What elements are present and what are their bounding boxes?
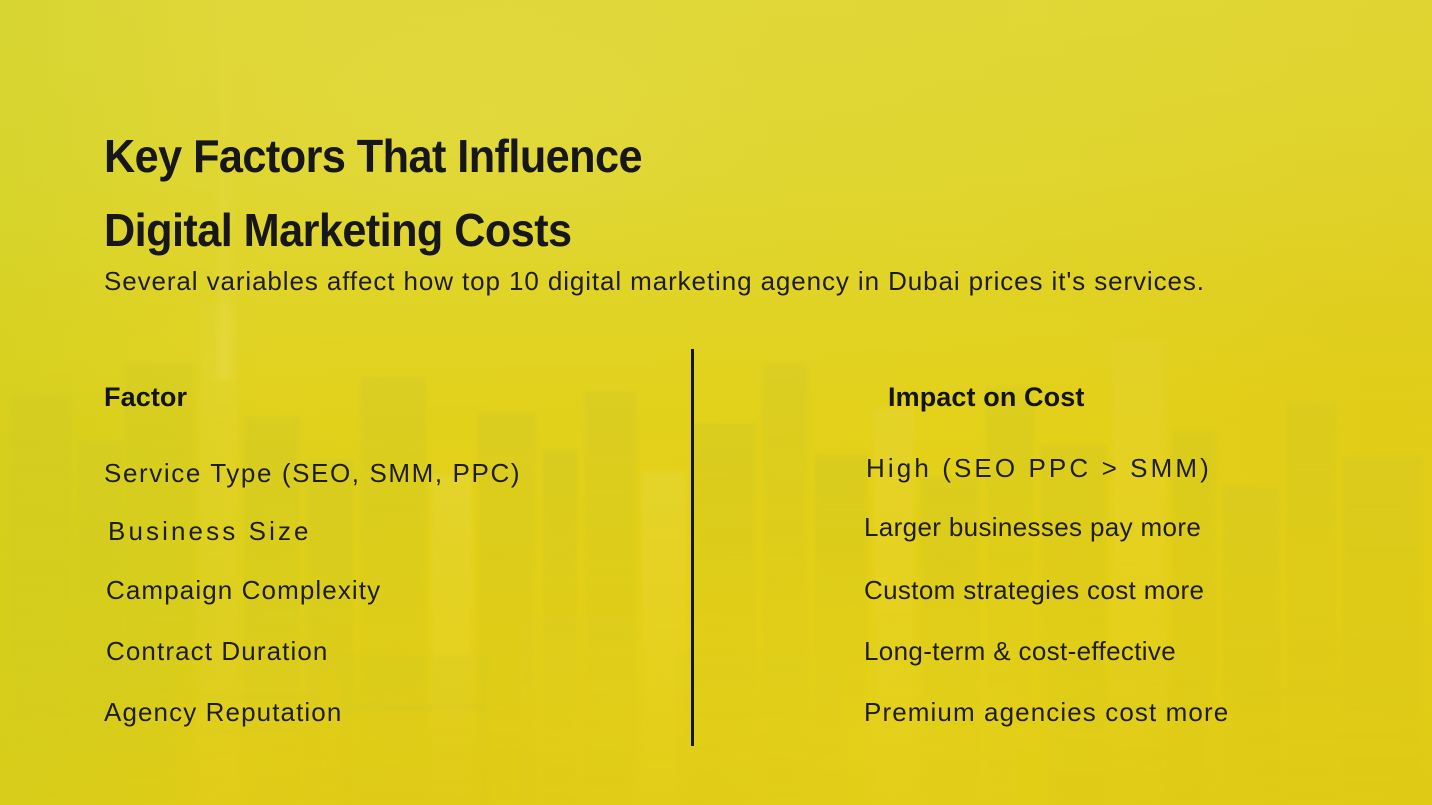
table-row: Larger businesses pay more	[864, 511, 1404, 574]
table-row: Long-term & cost-effective	[864, 635, 1404, 696]
table-row: Service Type (SEO, SMM, PPC)	[104, 457, 664, 515]
table-row: Agency Reputation	[104, 696, 664, 756]
impact-row-list: High (SEO PPC > SMM) Larger businesses p…	[864, 452, 1404, 756]
factor-row-list: Service Type (SEO, SMM, PPC) Business Si…	[104, 457, 664, 756]
slide-content: Key Factors That Influence Digital Marke…	[0, 0, 1432, 805]
page-title: Key Factors That Influence Digital Marke…	[104, 119, 1185, 267]
factor-column: Factor Service Type (SEO, SMM, PPC) Busi…	[104, 378, 664, 756]
table-row: Campaign Complexity	[104, 574, 664, 635]
column-header-factor: Factor	[104, 378, 664, 416]
table-row: Premium agencies cost more	[864, 696, 1404, 756]
page-title-line-2: Digital Marketing Costs	[104, 193, 1185, 267]
page-title-line-1: Key Factors That Influence	[104, 119, 1185, 193]
page-subtitle: Several variables affect how top 10 digi…	[104, 258, 1344, 304]
table-row: Custom strategies cost more	[864, 574, 1404, 635]
table-row: High (SEO PPC > SMM)	[864, 452, 1404, 511]
impact-column: Impact on Cost High (SEO PPC > SMM) Larg…	[864, 378, 1404, 756]
table-row: Contract Duration	[104, 635, 664, 696]
slide-canvas: Key Factors That Influence Digital Marke…	[0, 0, 1432, 805]
table-row: Business Size	[104, 515, 664, 574]
column-header-impact: Impact on Cost	[864, 378, 1404, 416]
column-divider	[691, 349, 694, 746]
